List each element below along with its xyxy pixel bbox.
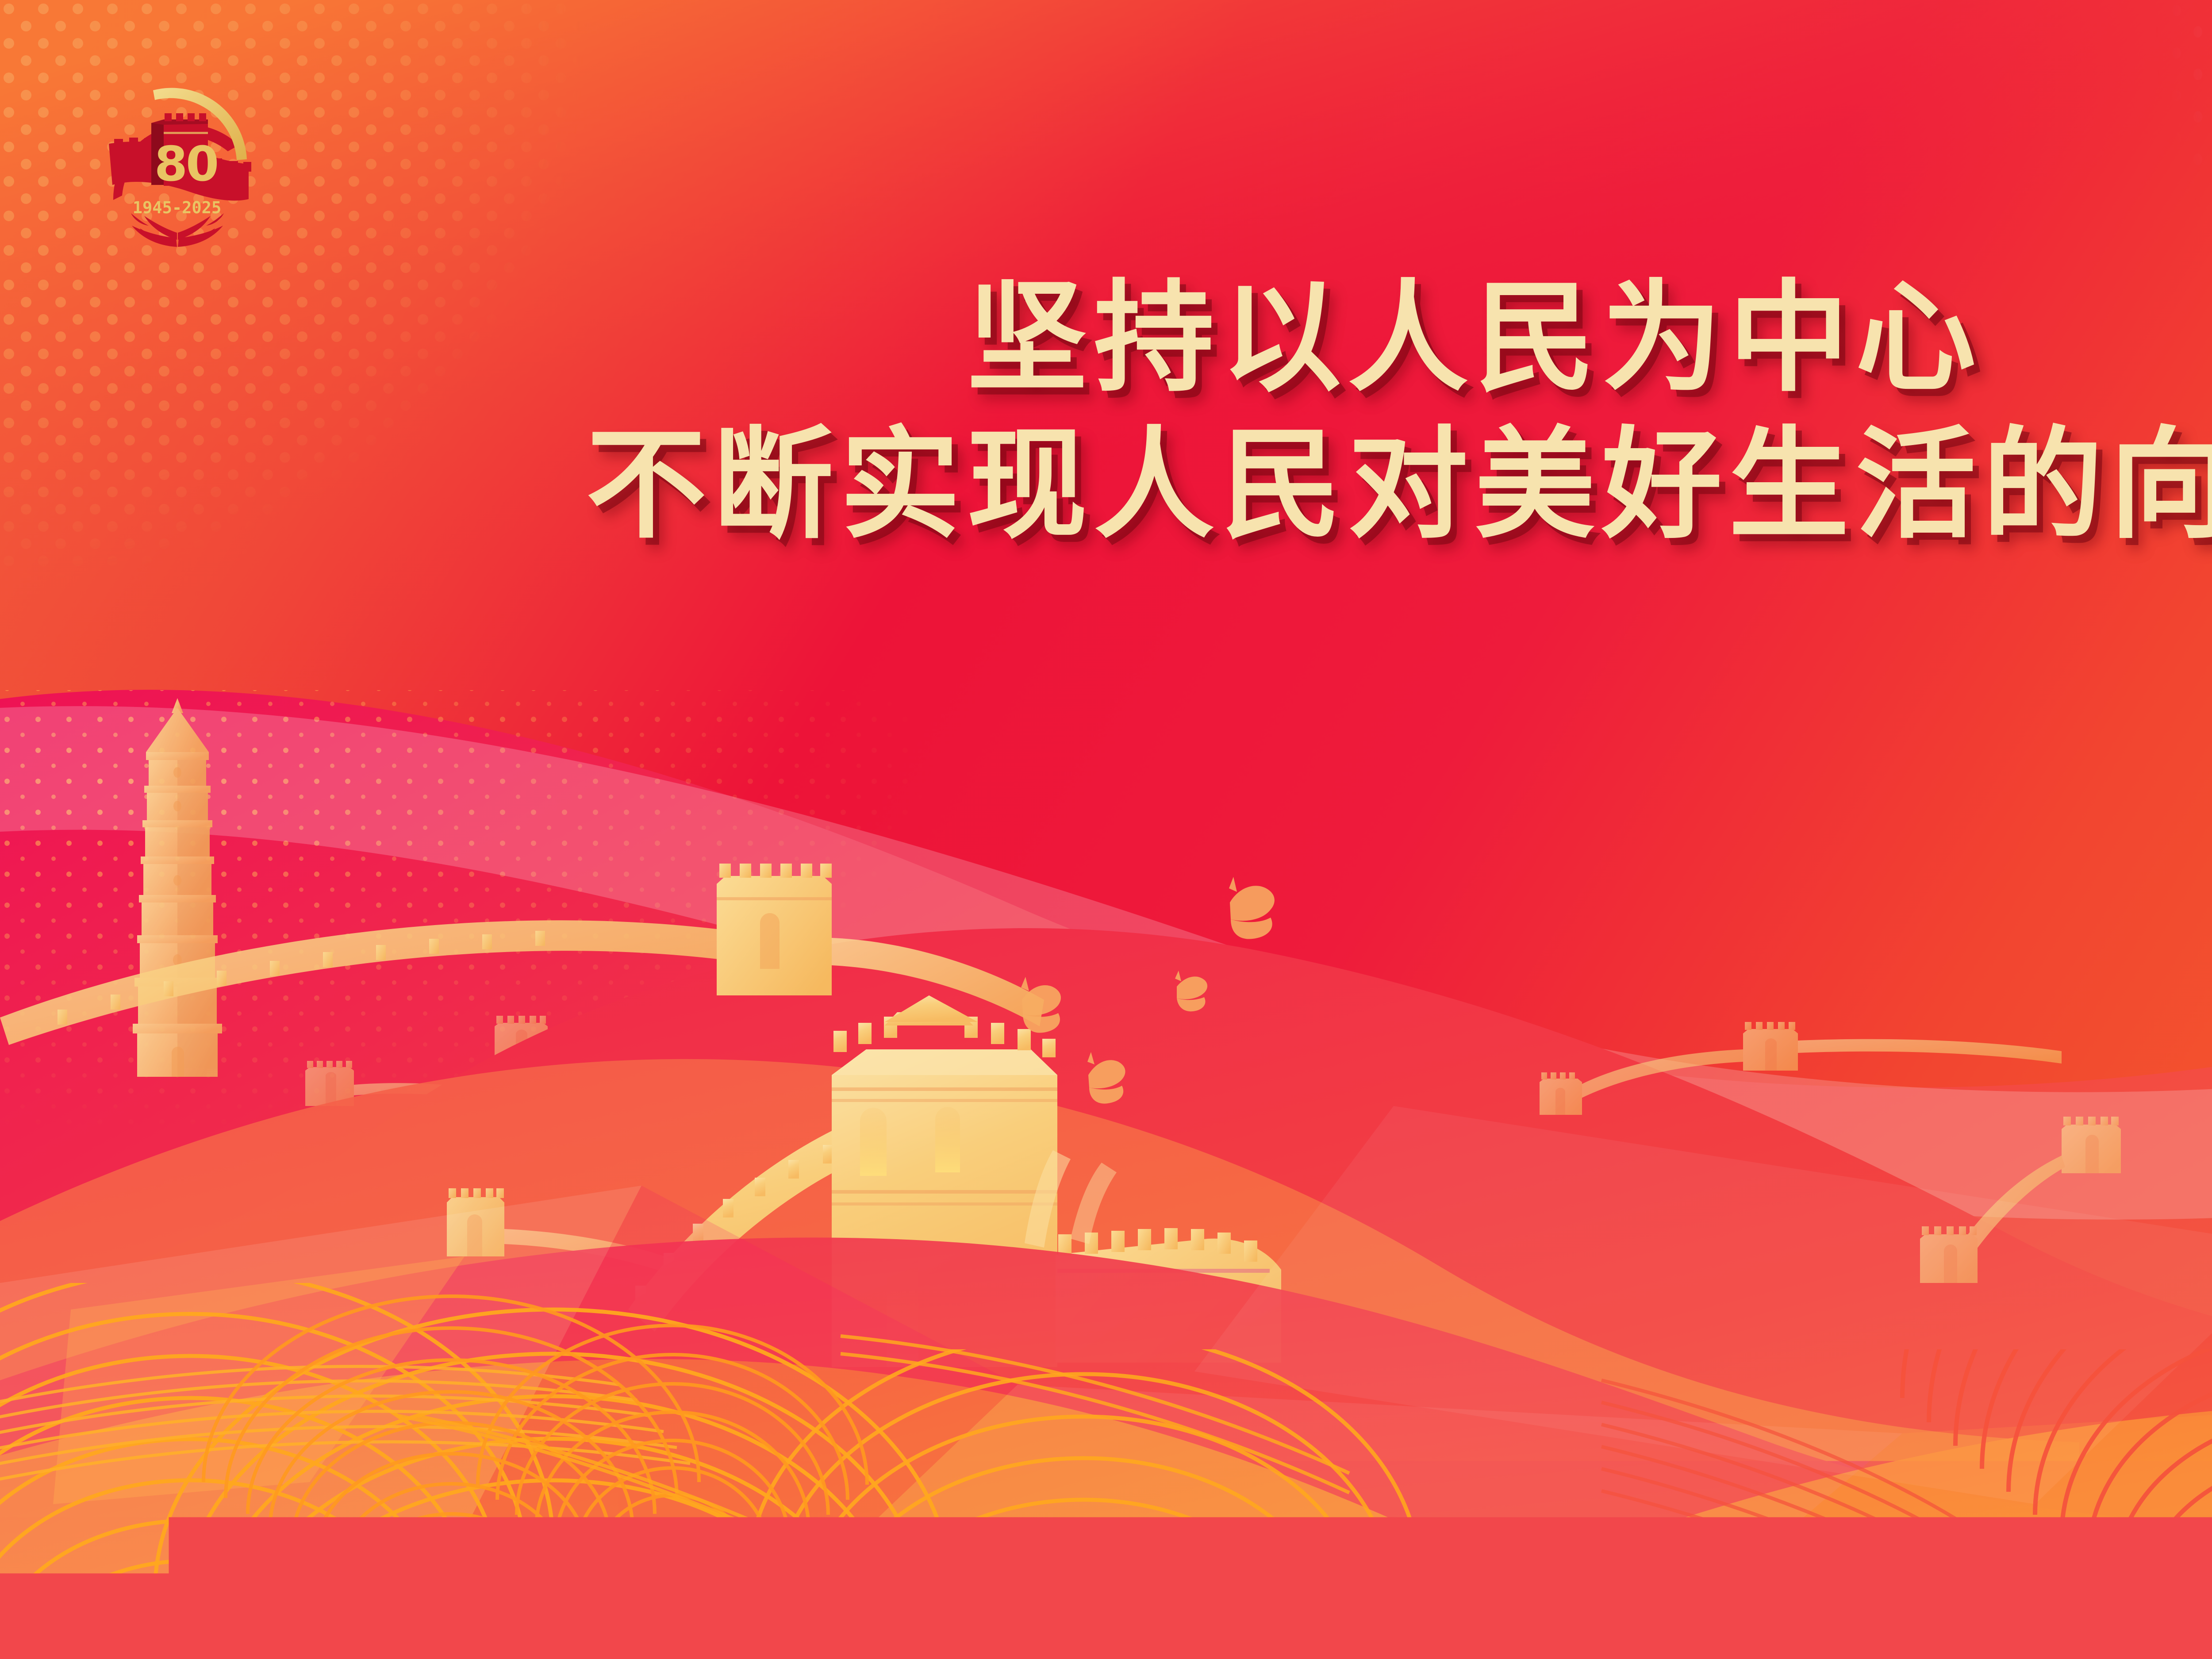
anniversary-emblem: 80 1945-2025 [49,31,279,261]
wave-lines-layer [0,0,2212,1659]
emblem-number: 80 [154,137,217,192]
emblem-tower-stripe [164,132,208,134]
emblem-years: 1945-2025 [133,198,221,217]
wave-cluster-magenta [204,1296,867,1614]
wave-ripples-right [1601,1380,2004,1650]
poster-canvas: 80 1945-2025 坚持以人民为中心 不断实现人民对美好生活的向往 [0,0,2212,1659]
emblem-laurel-wreath [131,213,224,247]
wave-cluster-right-peak1 [1902,1053,2212,1659]
